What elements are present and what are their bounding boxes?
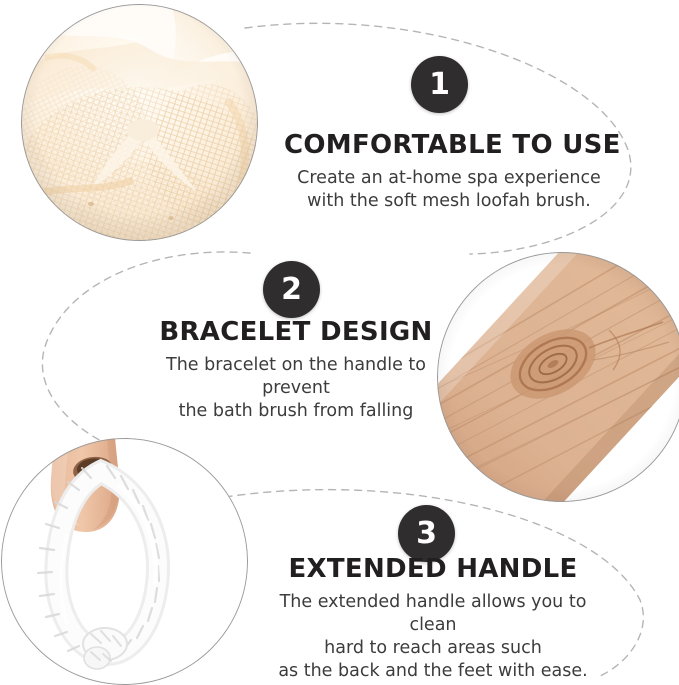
feature-text-block-1: COMFORTABLE TO USE Create an at-home spa… (284, 131, 614, 213)
feature-description-2-line-1: The bracelet on the handle to prevent (131, 354, 461, 400)
badge-number-1: 1 (429, 70, 450, 100)
badge-number-3: 3 (416, 519, 437, 549)
feature-description-3-line-2: hard to reach areas such (263, 637, 603, 660)
photo-ring-bracelet (1, 438, 248, 685)
photo-ring-wood (437, 252, 679, 502)
feature-description-1: Create an at-home spa experience with th… (284, 167, 614, 213)
photo-ring-loofah (21, 4, 258, 241)
feature-badge-1: 1 (411, 56, 468, 113)
feature-description-3-line-3: as the back and the feet with ease. (263, 660, 603, 683)
feature-text-block-3: EXTENDED HANDLE The extended handle allo… (263, 555, 603, 683)
feature-badge-2: 2 (263, 261, 320, 318)
feature-title-2: BRACELET DESIGN (131, 318, 461, 347)
feature-title-3: EXTENDED HANDLE (263, 555, 603, 584)
feature-description-1-line-2: with the soft mesh loofah brush. (284, 190, 614, 213)
feature-description-2-line-2: the bath brush from falling (131, 400, 461, 423)
bracelet-rope-photo (1, 438, 248, 685)
infographic-canvas: 1 2 3 COMFORTABLE TO USE Create an at-ho… (0, 0, 679, 679)
feature-description-2: The bracelet on the handle to prevent th… (131, 354, 461, 423)
feature-title-1: COMFORTABLE TO USE (284, 131, 614, 160)
feature-text-block-2: BRACELET DESIGN The bracelet on the hand… (131, 318, 461, 423)
wooden-handle-photo (437, 252, 679, 502)
feature-description-3: The extended handle allows you to clean … (263, 591, 603, 683)
badge-number-2: 2 (281, 275, 302, 305)
feature-description-3-line-1: The extended handle allows you to clean (263, 591, 603, 637)
loofah-mesh-photo (21, 4, 258, 241)
feature-description-1-line-1: Create an at-home spa experience (284, 167, 614, 190)
